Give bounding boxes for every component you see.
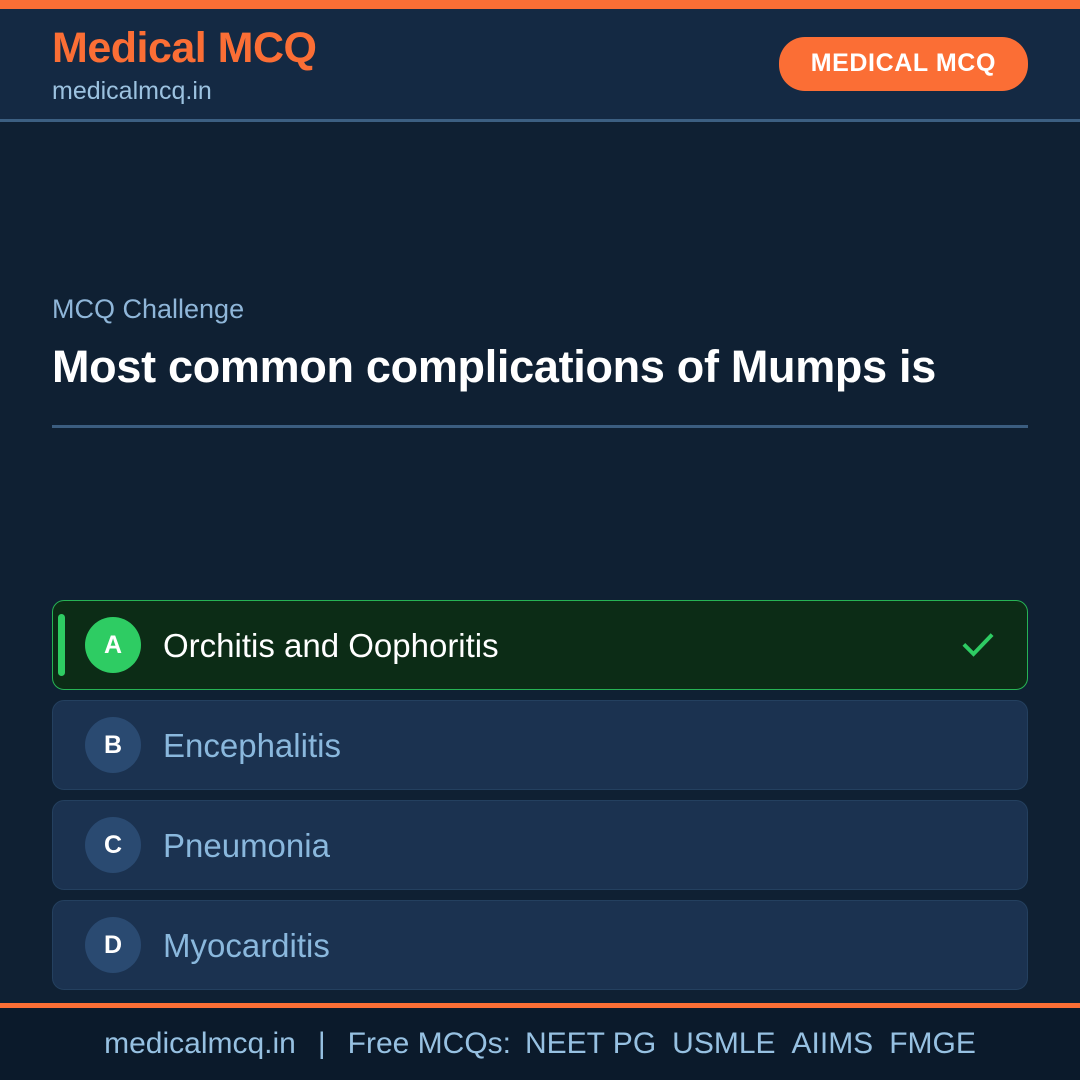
footer-exam-fmge: FMGE xyxy=(889,1029,976,1059)
header-badge: MEDICAL MCQ xyxy=(779,37,1028,91)
footer-label: Free MCQs: xyxy=(348,1029,511,1059)
footer-row: medicalmcq.in | Free MCQs: NEET PG USMLE… xyxy=(104,1029,976,1059)
check-icon xyxy=(960,627,996,663)
option-letter: C xyxy=(85,817,141,873)
option-label: Myocarditis xyxy=(163,929,330,962)
brand-subtitle: medicalmcq.in xyxy=(52,79,317,104)
option-d[interactable]: D Myocarditis xyxy=(52,900,1028,990)
footer-exams: NEET PG USMLE AIIMS FMGE xyxy=(525,1029,976,1059)
main-content: MCQ Challenge Most common complications … xyxy=(0,122,1080,1003)
footer-exam-aiims: AIIMS xyxy=(792,1029,874,1059)
footer-exam-neet-pg: NEET PG xyxy=(525,1029,656,1059)
footer: medicalmcq.in | Free MCQs: NEET PG USMLE… xyxy=(0,1008,1080,1080)
option-a[interactable]: A Orchitis and Oophoritis xyxy=(52,600,1028,690)
correct-accent-bar xyxy=(58,614,65,676)
brand-title: Medical MCQ xyxy=(52,27,317,70)
question-divider xyxy=(52,425,1028,428)
question-text: Most common complications of Mumps is xyxy=(52,340,982,394)
footer-site: medicalmcq.in xyxy=(104,1029,296,1059)
mcq-card: Medical MCQ medicalmcq.in MEDICAL MCQ MC… xyxy=(0,0,1080,1080)
top-accent-bar xyxy=(0,0,1080,9)
footer-separator: | xyxy=(318,1029,326,1059)
option-letter: D xyxy=(85,917,141,973)
question-block: MCQ Challenge Most common complications … xyxy=(52,296,1028,428)
option-label: Pneumonia xyxy=(163,829,330,862)
option-label: Encephalitis xyxy=(163,729,341,762)
option-b[interactable]: B Encephalitis xyxy=(52,700,1028,790)
option-letter: A xyxy=(85,617,141,673)
brand: Medical MCQ medicalmcq.in xyxy=(52,27,317,104)
option-letter: B xyxy=(85,717,141,773)
option-c[interactable]: C Pneumonia xyxy=(52,800,1028,890)
options-list: A Orchitis and Oophoritis B Encephalitis… xyxy=(52,600,1028,1000)
option-label: Orchitis and Oophoritis xyxy=(163,629,499,662)
eyebrow-label: MCQ Challenge xyxy=(52,296,1028,323)
header: Medical MCQ medicalmcq.in MEDICAL MCQ xyxy=(0,9,1080,122)
footer-exam-usmle: USMLE xyxy=(672,1029,775,1059)
